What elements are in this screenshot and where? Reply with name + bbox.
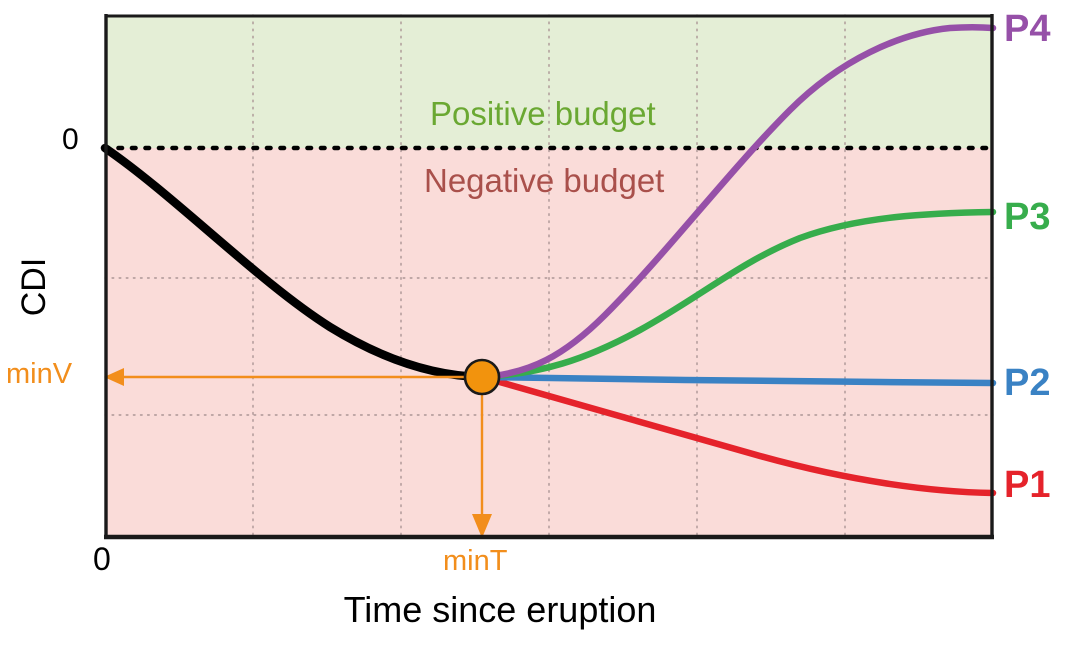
series-label-p3: P3	[1004, 198, 1050, 236]
negative-budget-label: Negative budget	[424, 164, 664, 197]
y-axis-tick-zero: 0	[62, 125, 79, 155]
positive-budget-label: Positive budget	[430, 97, 656, 130]
y-axis-title: CDI	[17, 227, 51, 347]
series-label-p2: P2	[1004, 364, 1050, 402]
x-axis-tick-mint: minT	[443, 547, 507, 576]
series-label-p1: P1	[1004, 466, 1050, 504]
x-axis-tick-zero: 0	[93, 543, 111, 575]
chart-figure: Positive budget Negative budget 0 0 minV…	[0, 0, 1076, 651]
y-axis-tick-minv: minV	[6, 360, 72, 389]
x-axis-title: Time since eruption	[0, 592, 1000, 628]
series-label-p4: P4	[1004, 10, 1050, 48]
minimum-marker-point	[465, 360, 499, 394]
